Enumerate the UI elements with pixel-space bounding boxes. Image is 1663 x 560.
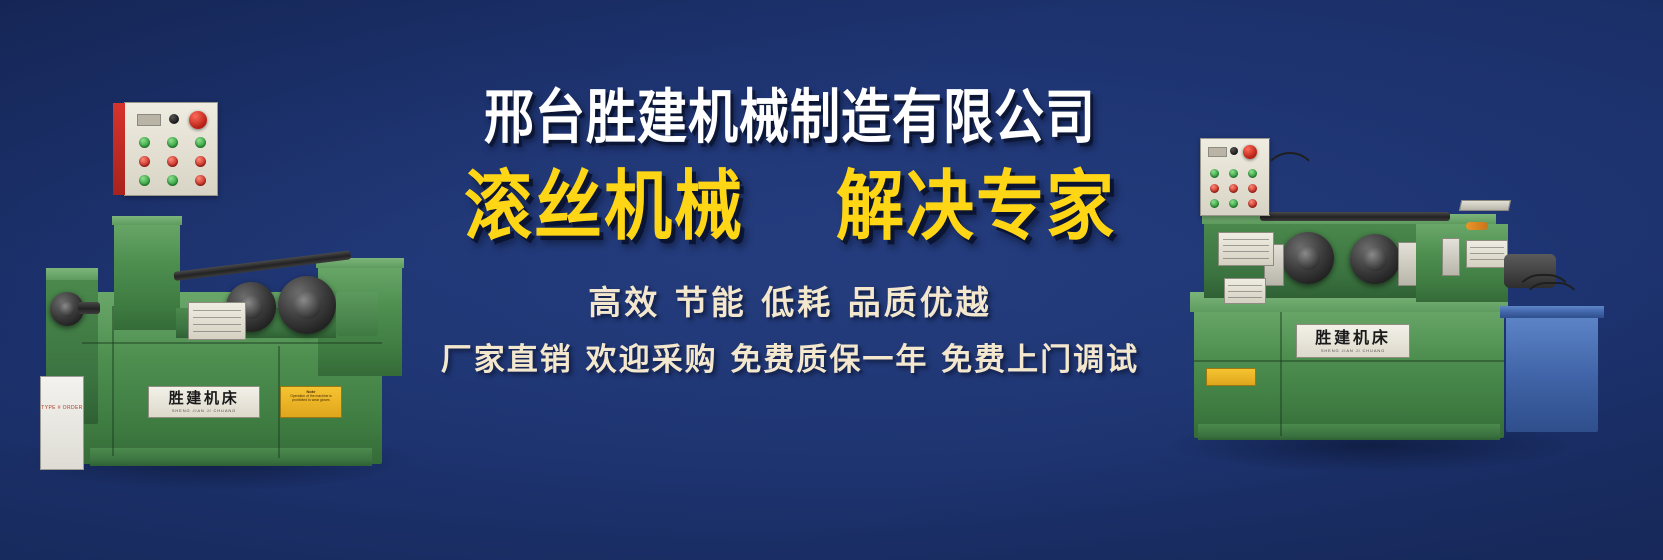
left-panel-button-5[interactable] [167, 156, 178, 167]
right-machine-fixture-table [1459, 200, 1511, 211]
right-panel-button-1[interactable] [1210, 169, 1219, 178]
right-machine-base-foot [1198, 424, 1500, 440]
subtitle-line-1: 高效 节能 低耗 品质优越 [390, 286, 1190, 319]
left-machine-side-shaft [78, 302, 100, 314]
right-panel-button-8[interactable] [1229, 199, 1238, 208]
headline-phrase-2: 解决专家 [836, 170, 1116, 246]
left-brand-cn: 胜建机床 [169, 391, 240, 406]
right-machine-seam-2 [1280, 312, 1282, 436]
left-panel-button-4[interactable] [139, 156, 150, 167]
warning-label-text: Operation of the machine is prohibited t… [283, 394, 339, 403]
right-machine-side-plate [1466, 240, 1508, 268]
left-machine-seam-3 [82, 342, 382, 344]
left-panel-button-7[interactable] [139, 175, 150, 186]
promo-banner: TYPE # ORDER 胜建机床 SHENG JIAN JI CHUANG [0, 0, 1663, 560]
left-machine-brand-nameplate: 胜建机床 SHENG JIAN JI CHUANG [148, 386, 260, 418]
left-machine-side-cabinet: TYPE # ORDER [40, 376, 84, 470]
left-panel-button-1[interactable] [139, 137, 150, 148]
right-machine-brand-nameplate: 胜建机床 SHENG JIAN JI CHUANG [1296, 324, 1410, 358]
right-machine-conduit [1262, 152, 1318, 218]
right-brand-cn: 胜建机床 [1315, 330, 1391, 346]
right-panel-button-9[interactable] [1248, 199, 1257, 208]
right-machine-hose-2 [1522, 282, 1582, 330]
right-machine: 胜建机床 SHENG JIAN JI CHUANG [1170, 128, 1640, 458]
left-machine-seam-1 [112, 306, 114, 456]
left-machine-base-foot [90, 448, 372, 466]
left-panel-emergency-stop-button[interactable] [189, 111, 207, 129]
left-machine-column [114, 220, 180, 330]
left-brand-pinyin: SHENG JIAN JI CHUANG [172, 409, 236, 413]
right-machine-seam-1 [1194, 360, 1504, 362]
left-panel-button-8[interactable] [167, 175, 178, 186]
right-panel-button-4[interactable] [1210, 184, 1219, 193]
right-machine-die-block-right [1398, 242, 1418, 286]
left-panel-display [137, 114, 161, 126]
right-machine-rating-plate [1218, 232, 1274, 266]
left-machine-column-top [112, 216, 182, 225]
right-panel-display [1208, 147, 1227, 157]
right-panel-button-3[interactable] [1248, 169, 1257, 178]
left-machine-warning-label: Note Operation of the machine is prohibi… [280, 386, 342, 418]
right-machine-sub-plate [1224, 278, 1266, 304]
right-panel-emergency-stop-button[interactable] [1243, 145, 1257, 159]
left-panel-button-6[interactable] [195, 156, 206, 167]
left-machine-cabinet-text: TYPE # ORDER [41, 377, 83, 413]
right-panel-button-6[interactable] [1248, 184, 1257, 193]
right-machine-roller-b [1350, 234, 1400, 284]
left-machine-left-pedestal-top [46, 268, 98, 280]
left-machine-seam-2 [278, 346, 280, 458]
right-panel-selector-knob[interactable] [1230, 147, 1238, 155]
right-machine-hydraulic-unit [1506, 314, 1598, 432]
banner-text-block: 邢台胜建机械制造有限公司 滚丝机械 解决专家 高效 节能 低耗 品质优越 厂家直… [390, 88, 1190, 428]
right-panel-button-2[interactable] [1229, 169, 1238, 178]
company-name: 邢台胜建机械制造有限公司 [390, 88, 1190, 147]
left-panel-button-3[interactable] [195, 137, 206, 148]
right-machine-warning-strip [1206, 368, 1256, 386]
right-machine-terminal-block [1466, 222, 1488, 230]
right-panel-button-7[interactable] [1210, 199, 1219, 208]
left-panel-button-2[interactable] [167, 137, 178, 148]
right-machine-control-box[interactable] [1200, 138, 1270, 216]
right-brand-pinyin: SHENG JIAN JI CHUANG [1321, 349, 1385, 353]
left-panel-selector-knob[interactable] [169, 114, 179, 124]
right-panel-button-5[interactable] [1229, 184, 1238, 193]
subtitle-line-2: 厂家直销 欢迎采购 免费质保一年 免费上门调试 [390, 345, 1190, 376]
left-machine-motor [336, 292, 378, 336]
left-panel-button-9[interactable] [195, 175, 206, 186]
right-machine-feed-unit [1442, 238, 1460, 276]
left-machine-control-box[interactable] [124, 102, 218, 196]
left-machine-roller-b [278, 276, 336, 334]
left-machine: TYPE # ORDER 胜建机床 SHENG JIAN JI CHUANG [28, 96, 418, 456]
headline-row: 滚丝机械 解决专家 [390, 174, 1190, 242]
left-machine-rating-plate [188, 302, 246, 340]
right-machine-roller-a [1282, 232, 1334, 284]
headline-phrase-1: 滚丝机械 [464, 170, 744, 246]
